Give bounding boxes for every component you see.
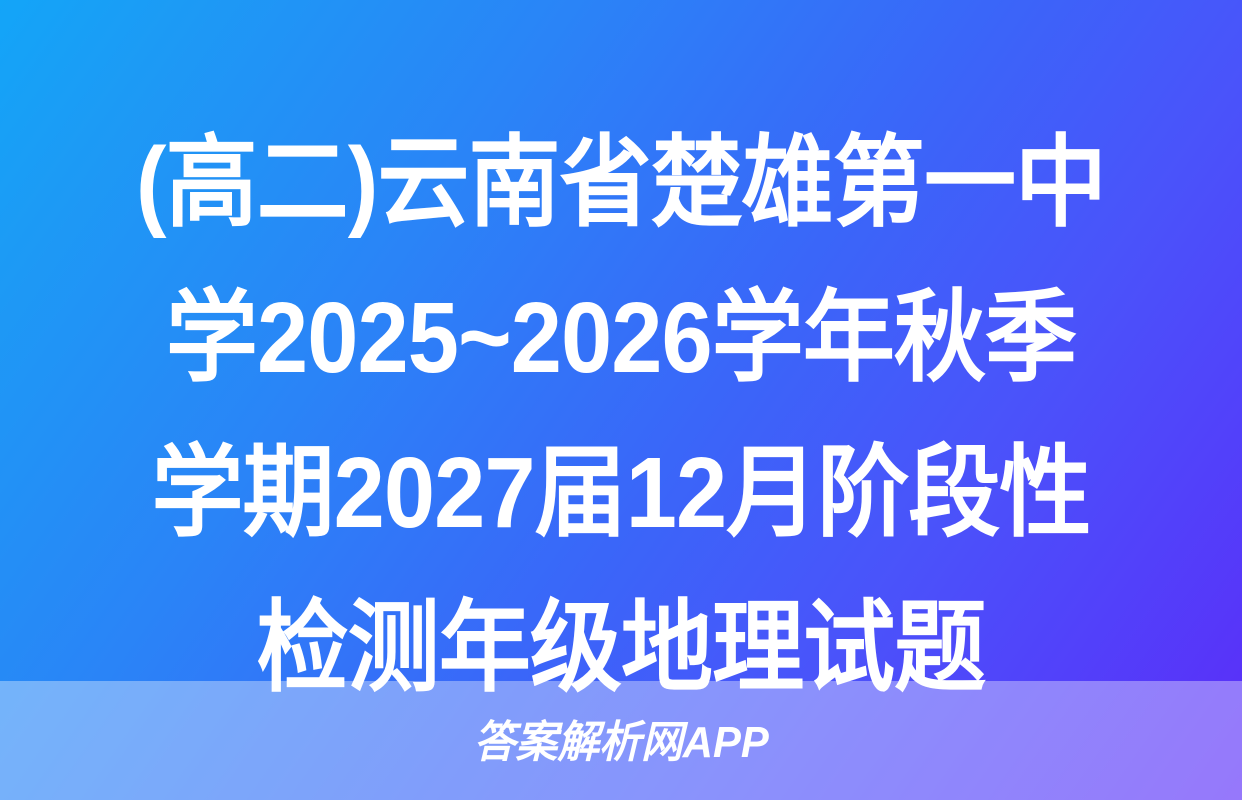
title-line-1: (高二)云南省楚雄第一中 (75, 106, 1166, 261)
brand-watermark-label: 答案解析网APP (474, 721, 769, 765)
footer-brand-band: 答案解析网APP (0, 681, 1242, 800)
poster-title-block: (高二)云南省楚雄第一中 学2025~2026学年秋季 学期2027届12月阶段… (0, 106, 1242, 681)
exam-title-poster: (高二)云南省楚雄第一中 学2025~2026学年秋季 学期2027届12月阶段… (0, 0, 1242, 800)
title-line-3: 学期2027届12月阶段性 (75, 416, 1166, 571)
title-line-2: 学2025~2026学年秋季 (75, 261, 1166, 416)
